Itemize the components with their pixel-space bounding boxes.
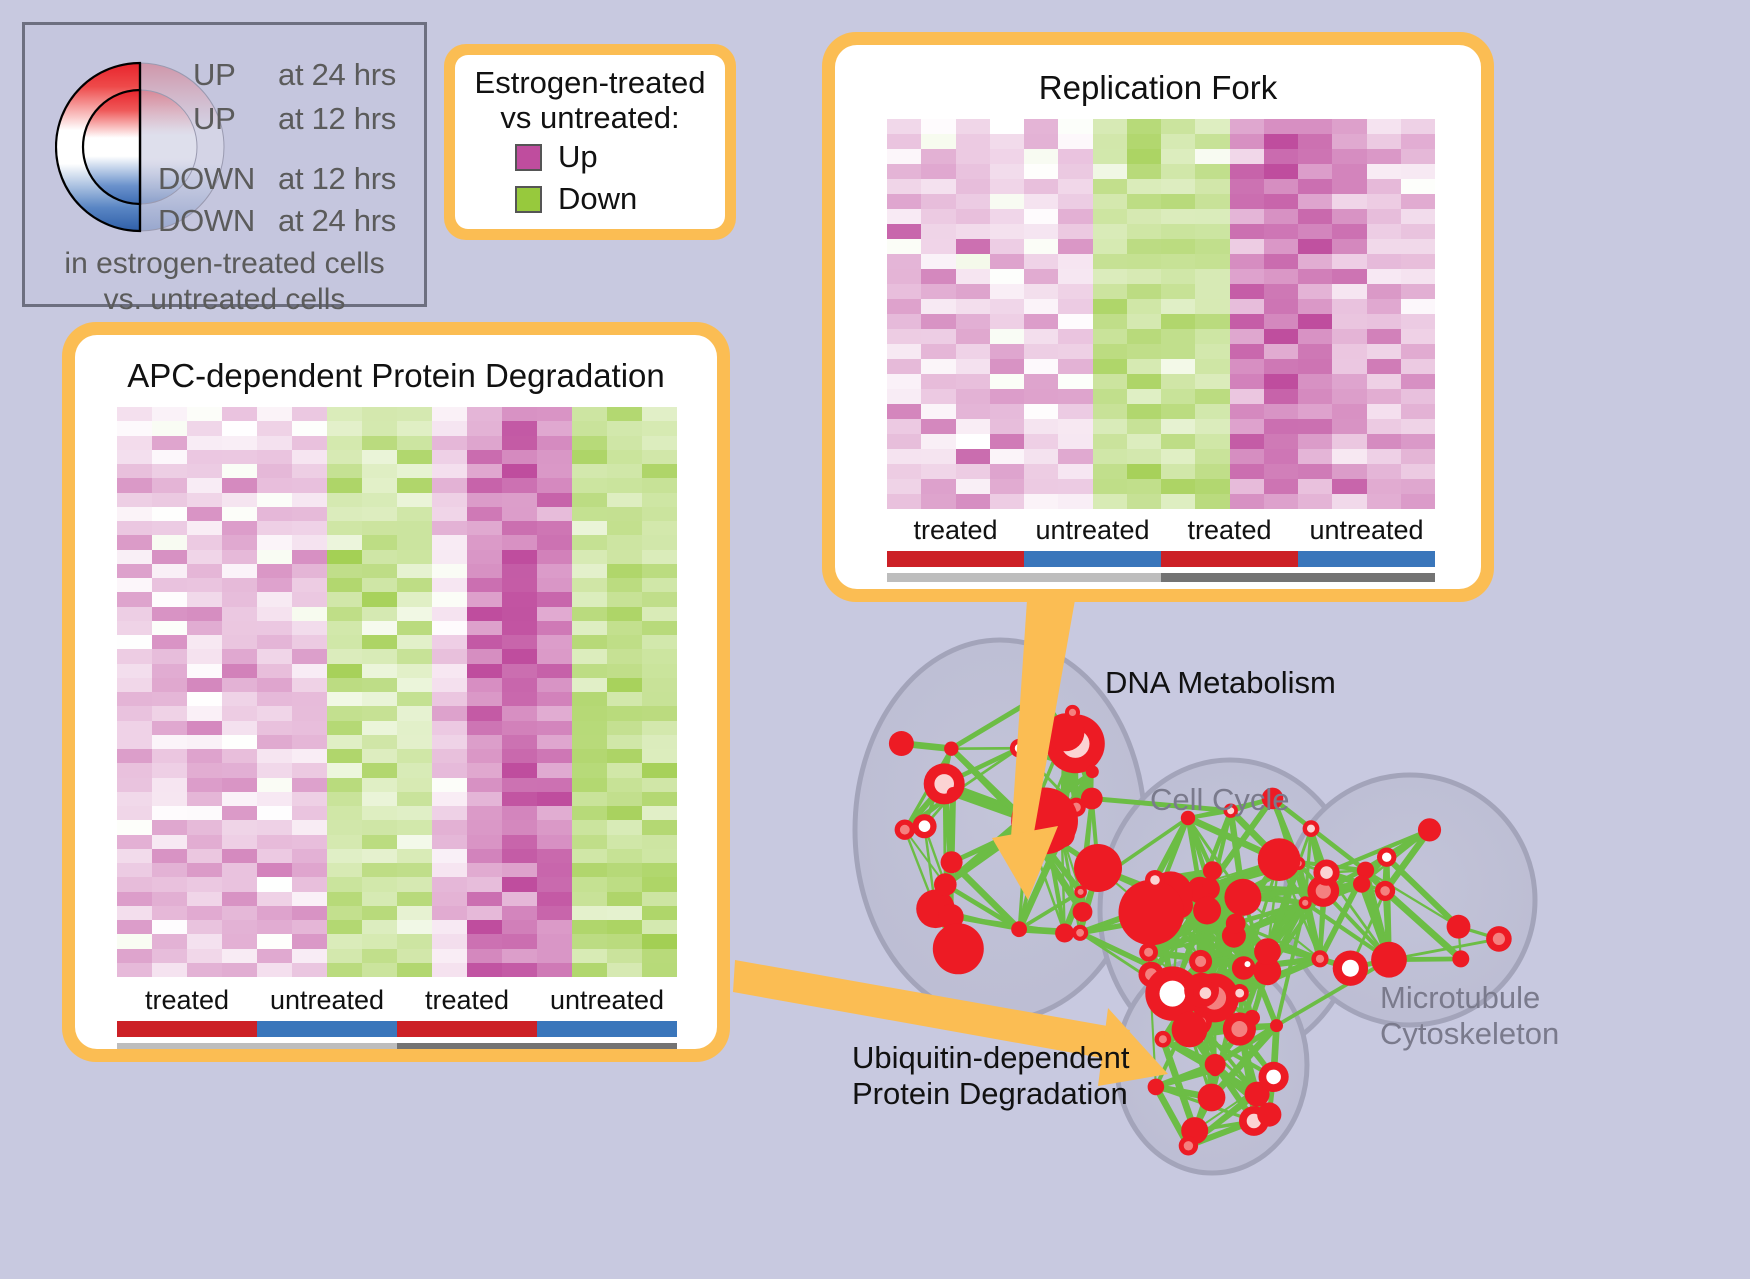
ubiquitin-line1: Ubiquitin-dependent <box>852 1040 1130 1076</box>
cluster-label-ubiquitin-degradation: Ubiquitin-dependent Protein Degradation <box>852 1040 1130 1111</box>
cluster-label-dna-metabolism: DNA Metabolism <box>1105 665 1336 701</box>
cluster-label-microtubule-cytoskeleton: Microtubule Cytoskeleton <box>1380 980 1559 1051</box>
cluster-label-cell-cycle: Cell Cycle <box>1150 782 1290 818</box>
ubiquitin-line2: Protein Degradation <box>852 1076 1130 1112</box>
microtubule-line2: Cytoskeleton <box>1380 1016 1559 1052</box>
microtubule-line1: Microtubule <box>1380 980 1559 1016</box>
